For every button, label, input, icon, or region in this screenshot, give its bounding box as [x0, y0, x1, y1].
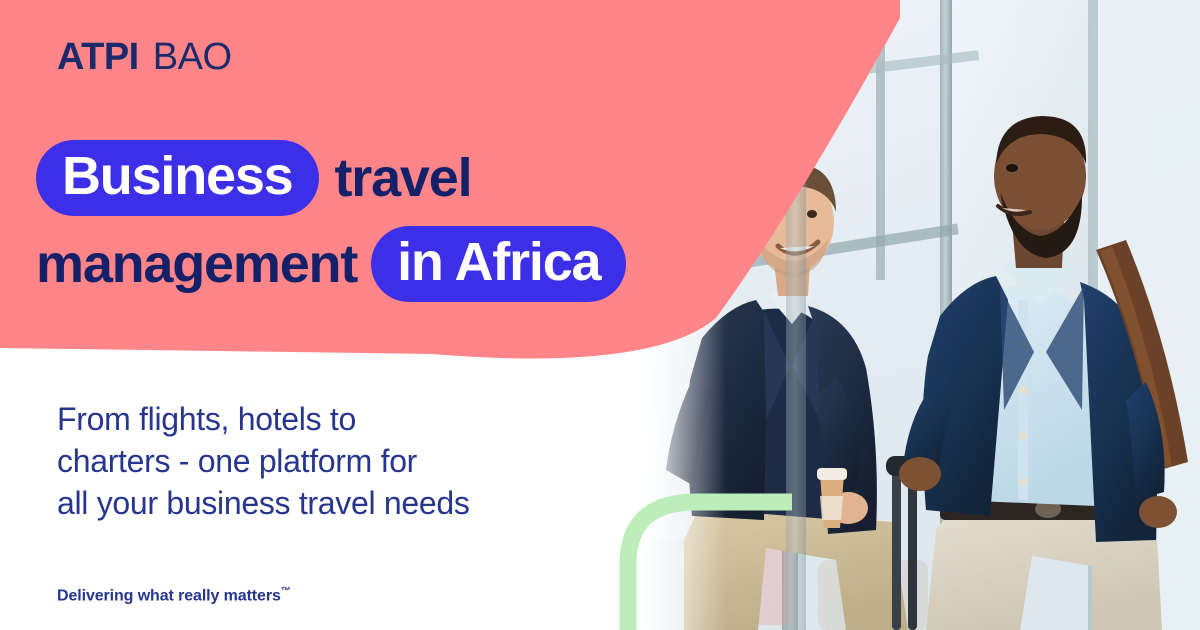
headline-word-travel: travel — [319, 151, 472, 205]
body-copy-line-3: all your business travel needs — [57, 482, 597, 524]
body-copy-line-2: charters - one platform for — [57, 440, 597, 482]
headline-word-management: management — [36, 237, 357, 291]
logo-bao-text: BAO — [153, 36, 232, 78]
body-copy-line-1: From flights, hotels to — [57, 398, 597, 440]
headline-pill-in-africa: in Africa — [371, 226, 626, 302]
tagline-text: Delivering what really matters — [57, 587, 281, 604]
headline-pill-business: Business — [36, 140, 319, 216]
headline-line-1: Businesstravel — [36, 140, 736, 216]
headline: Businesstravel managementin Africa — [36, 140, 736, 312]
headline-line-2: managementin Africa — [36, 226, 736, 302]
marketing-banner: ATPIBAO Businesstravel managementin Afri… — [0, 0, 1200, 630]
brand-tagline: Delivering what really matters™ — [57, 586, 291, 605]
trademark-symbol: ™ — [281, 586, 291, 597]
body-copy: From flights, hotels to charters - one p… — [57, 398, 597, 525]
brand-logo[interactable]: ATPIBAO — [57, 38, 232, 76]
hand-right — [899, 457, 941, 491]
logo-atpi-text: ATPI — [57, 36, 139, 78]
